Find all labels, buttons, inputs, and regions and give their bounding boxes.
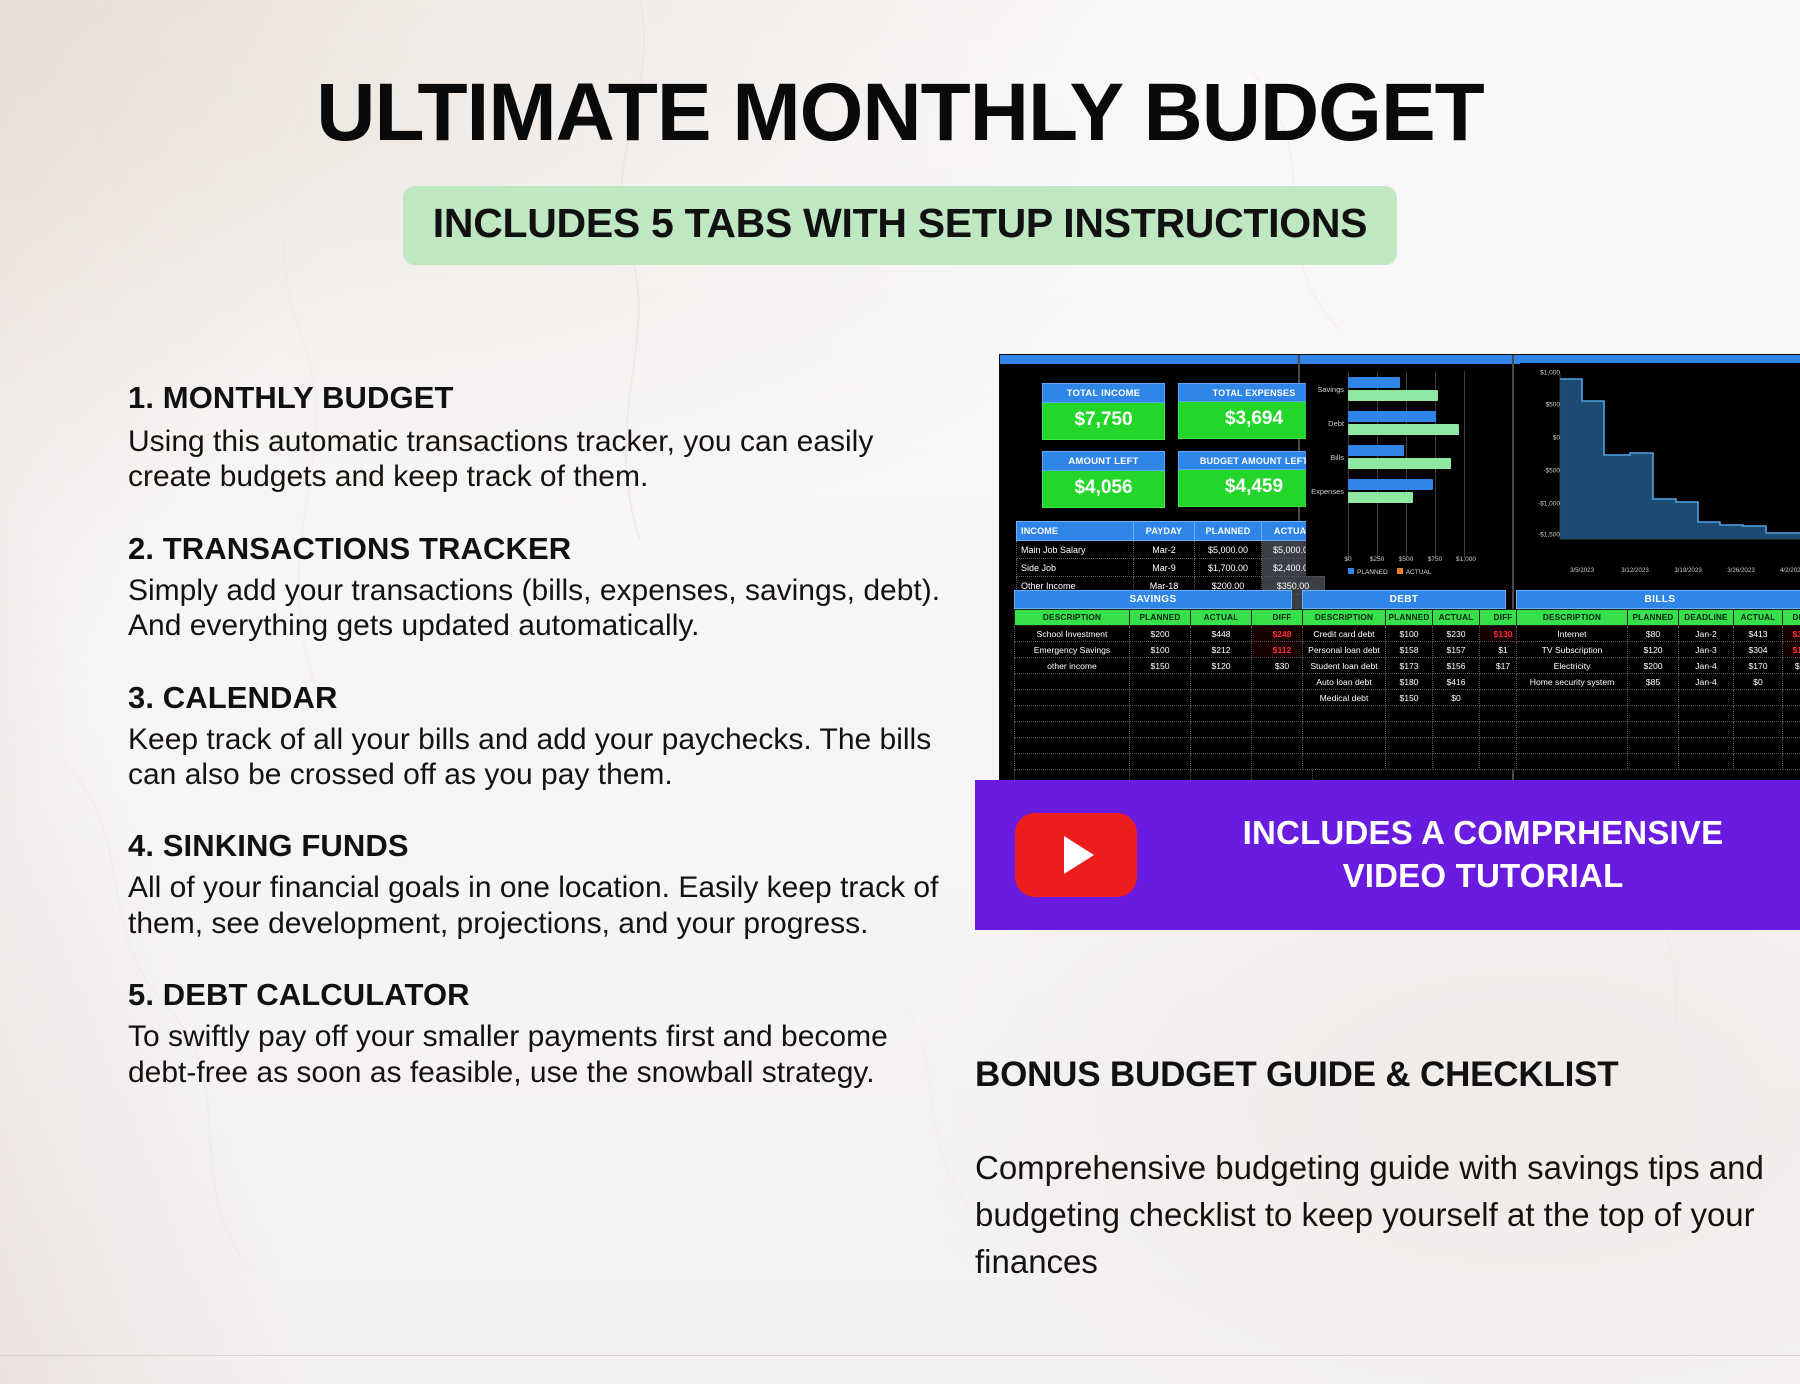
debt-cell-desc: Student loan debt: [1303, 658, 1386, 674]
legend-label-actual: ACTUAL: [1406, 569, 1432, 576]
bills-table: BILLS DESCRIPTION PLANNED DEADLINE ACTUA…: [1516, 590, 1800, 770]
table-row: Main Job Salary Mar-2 $5,000.00 $5,000.0…: [1017, 541, 1325, 559]
bills-cell-empty: [1734, 690, 1783, 706]
savings-cell-empty: [1130, 690, 1191, 706]
kpi-value-total-income: $7,750: [1042, 403, 1165, 440]
table-row: [1015, 706, 1313, 722]
bar-group-bills: Bills: [1306, 445, 1506, 473]
debt-cell-actual: $0: [1433, 690, 1480, 706]
balance-area-chart: $1,000 $500 $0 -$500 -$1,000 -$1,500 3/5…: [1520, 363, 1800, 575]
savings-header-row: DESCRIPTION PLANNED ACTUAL DIFF: [1015, 610, 1313, 626]
savings-cell-empty: [1015, 738, 1130, 754]
subtitle-post: WITH SETUP INSTRUCTIONS: [792, 200, 1367, 246]
debt-cell-empty: [1303, 706, 1386, 722]
x-tick-1000: $1,000: [1456, 556, 1476, 563]
income-cell-payday: Mar-9: [1134, 559, 1195, 577]
bills-col-planned: PLANNED: [1628, 610, 1679, 626]
bar-planned-expenses: [1348, 479, 1433, 490]
income-cell-desc: Side Job: [1017, 559, 1134, 577]
savings-cell-desc: School Investment: [1015, 626, 1130, 642]
y-tick-neg1000: -$1,000: [1538, 501, 1560, 508]
legend-swatch-actual: [1397, 568, 1403, 574]
savings-cell-empty: [1015, 674, 1130, 690]
savings-cell-actual: $212: [1191, 642, 1252, 658]
bar-label-bills: Bills: [1306, 453, 1344, 462]
debt-table: DEBT DESCRIPTION PLANNED ACTUAL DIFF Cre…: [1302, 590, 1506, 770]
savings-cell-desc: Emergency Savings: [1015, 642, 1130, 658]
bills-cell-desc: Internet: [1517, 626, 1628, 642]
table-row: [1015, 722, 1313, 738]
bills-cell-empty: [1679, 754, 1734, 770]
debt-cell-actual: $157: [1433, 642, 1480, 658]
savings-cell-empty: [1015, 754, 1130, 770]
savings-table-caption: SAVINGS: [1014, 590, 1292, 609]
debt-cell-actual: $156: [1433, 658, 1480, 674]
x-tick-250: $250: [1370, 556, 1384, 563]
bills-cell-planned: $120: [1628, 642, 1679, 658]
table-row: Auto loan debt $180 $416: [1303, 674, 1527, 690]
debt-table-caption: DEBT: [1302, 590, 1506, 609]
bar-chart-x-axis: $0 $250 $500 $750 $1,000: [1348, 556, 1502, 566]
subtitle-pre: INCLUDES 5: [433, 200, 685, 246]
bills-cell-empty: [1679, 690, 1734, 706]
bills-cell-empty: [1628, 690, 1679, 706]
x-label-3: 3/19/2023: [1674, 567, 1702, 574]
feature-heading-5: 5. DEBT CALCULATOR: [128, 977, 943, 1013]
savings-cell-empty: [1015, 722, 1130, 738]
bills-cell-actual: $304: [1734, 642, 1783, 658]
feature-list: 1. MONTHLY BUDGET Using this automatic t…: [128, 380, 943, 1126]
debt-cell-empty: [1386, 722, 1433, 738]
bills-col-actual: ACTUAL: [1734, 610, 1783, 626]
savings-cell-desc: other income: [1015, 658, 1130, 674]
bar-label-savings: Savings: [1306, 385, 1344, 394]
x-tick-750: $750: [1428, 556, 1442, 563]
bills-table-caption: BILLS: [1516, 590, 1800, 609]
savings-cell-empty: [1191, 674, 1252, 690]
table-row: [1015, 738, 1313, 754]
income-col-planned: PLANNED: [1195, 522, 1262, 541]
video-banner-text: INCLUDES A COMPRHENSIVE VIDEO TUTORIAL: [1171, 812, 1800, 898]
bar-actual-debt: [1348, 424, 1459, 435]
bills-cell-actual: $0: [1734, 674, 1783, 690]
bills-cell-actual: $170: [1734, 658, 1783, 674]
table-row: Emergency Savings $100 $212 $112: [1015, 642, 1313, 658]
bar-actual-savings: [1348, 390, 1438, 401]
bills-cell-planned: $80: [1628, 626, 1679, 642]
income-cell-payday: Mar-2: [1134, 541, 1195, 559]
y-tick-0: $0: [1553, 435, 1560, 442]
debt-cell-planned: $158: [1386, 642, 1433, 658]
feature-body-5: To swiftly pay off your smaller payments…: [128, 1019, 943, 1090]
y-tick-500: $500: [1546, 402, 1560, 409]
savings-cell-empty: [1130, 754, 1191, 770]
page-title: ULTIMATE MONTHLY BUDGET: [0, 72, 1800, 154]
table-row: [1015, 690, 1313, 706]
debt-cell-desc: Personal loan debt: [1303, 642, 1386, 658]
table-row: [1303, 738, 1527, 754]
debt-cell-desc: Auto loan debt: [1303, 674, 1386, 690]
savings-cell-empty: [1191, 722, 1252, 738]
bar-chart-legend: PLANNED ACTUAL: [1348, 568, 1431, 576]
subtitle-banner-wrap: INCLUDES 5 TABS WITH SETUP INSTRUCTIONS: [0, 186, 1800, 265]
bills-cell-diff: $184: [1783, 642, 1800, 658]
table-row: Student loan debt $173 $156 $17: [1303, 658, 1527, 674]
savings-cell-empty: [1015, 706, 1130, 722]
footer-divider: [0, 1355, 1800, 1356]
feature-item-5: 5. DEBT CALCULATOR To swiftly pay off yo…: [128, 977, 943, 1090]
bills-cell-diff: [1783, 674, 1800, 690]
table-row: Side Job Mar-9 $1,700.00 $2,400.00: [1017, 559, 1325, 577]
kpi-label-total-income: TOTAL INCOME: [1042, 383, 1165, 403]
kpi-card-amount-left: AMOUNT LEFT $4,056: [1042, 451, 1165, 508]
debt-col-description: DESCRIPTION: [1303, 610, 1386, 626]
bills-cell-diff: $333: [1783, 626, 1800, 642]
bills-col-description: DESCRIPTION: [1517, 610, 1628, 626]
debt-cell-desc: Credit card debt: [1303, 626, 1386, 642]
debt-cell-empty: [1303, 754, 1386, 770]
video-banner-line-2: VIDEO TUTORIAL: [1171, 855, 1795, 898]
y-tick-1000: $1,000: [1540, 370, 1560, 377]
bills-cell-deadline: Jan-2: [1679, 626, 1734, 642]
feature-heading-2: 2. TRANSACTIONS TRACKER: [128, 531, 943, 567]
bills-header-row: DESCRIPTION PLANNED DEADLINE ACTUAL DIFF: [1517, 610, 1800, 626]
balance-area-chart-svg: [1520, 363, 1800, 575]
bills-cell-empty: [1628, 706, 1679, 722]
feature-heading-3: 3. CALENDAR: [128, 680, 943, 716]
x-label-1: 3/5/2023: [1570, 567, 1594, 574]
x-tick-0: $0: [1344, 556, 1351, 563]
bonus-body: Comprehensive budgeting guide with savin…: [975, 1145, 1775, 1286]
table-row: [1517, 690, 1800, 706]
income-cell-desc: Main Job Salary: [1017, 541, 1134, 559]
bills-cell-empty: [1679, 722, 1734, 738]
table-row: Personal loan debt $158 $157 $1: [1303, 642, 1527, 658]
savings-table: SAVINGS DESCRIPTION PLANNED ACTUAL DIFF …: [1014, 590, 1292, 785]
bills-cell-deadline: Jan-4: [1679, 674, 1734, 690]
bills-cell-deadline: Jan-3: [1679, 642, 1734, 658]
savings-cell-empty: [1191, 754, 1252, 770]
x-label-5: 4/2/2023: [1780, 567, 1800, 574]
x-tick-500: $500: [1399, 556, 1413, 563]
y-tick-neg1500: -$1,500: [1538, 532, 1560, 539]
debt-cell-desc: Medical debt: [1303, 690, 1386, 706]
debt-cell-empty: [1433, 722, 1480, 738]
bar-planned-bills: [1348, 445, 1404, 456]
bills-cell-empty: [1783, 706, 1800, 722]
bills-cell-desc: Home security system: [1517, 674, 1628, 690]
bar-actual-expenses: [1348, 492, 1413, 503]
subtitle-banner: INCLUDES 5 TABS WITH SETUP INSTRUCTIONS: [403, 186, 1397, 265]
table-row: [1015, 674, 1313, 690]
x-label-4: 3/26/2023: [1727, 567, 1755, 574]
table-row: [1517, 706, 1800, 722]
debt-col-planned: PLANNED: [1386, 610, 1433, 626]
debt-cell-planned: $100: [1386, 626, 1433, 642]
savings-cell-planned: $200: [1130, 626, 1191, 642]
table-row: School Investment $200 $448 $248: [1015, 626, 1313, 642]
feature-item-1: 1. MONTHLY BUDGET Using this automatic t…: [128, 380, 943, 495]
feature-heading-4: 4. SINKING FUNDS: [128, 828, 943, 864]
debt-cell-empty: [1386, 754, 1433, 770]
debt-header-row: DESCRIPTION PLANNED ACTUAL DIFF: [1303, 610, 1527, 626]
bonus-heading: BONUS BUDGET GUIDE & CHECKLIST: [975, 1055, 1800, 1095]
legend-label-planned: PLANNED: [1357, 569, 1388, 576]
kpi-label-amount-left: AMOUNT LEFT: [1042, 451, 1165, 471]
bar-label-expenses: Expenses: [1306, 487, 1344, 496]
youtube-play-icon[interactable]: [1015, 813, 1137, 897]
debt-cell-empty: [1386, 738, 1433, 754]
bills-col-deadline: DEADLINE: [1679, 610, 1734, 626]
table-row: Electricity $200 Jan-4 $170 $30: [1517, 658, 1800, 674]
bills-cell-empty: [1734, 722, 1783, 738]
table-row: [1303, 722, 1527, 738]
bills-cell-empty: [1783, 690, 1800, 706]
bar-group-savings: Savings: [1306, 377, 1506, 405]
feature-body-1: Using this automatic transactions tracke…: [128, 424, 943, 495]
debt-cell-empty: [1386, 706, 1433, 722]
table-row: TV Subscription $120 Jan-3 $304 $184: [1517, 642, 1800, 658]
income-col-payday: PAYDAY: [1134, 522, 1195, 541]
bills-cell-empty: [1679, 738, 1734, 754]
savings-cell-empty: [1191, 738, 1252, 754]
video-banner-line-1: INCLUDES A COMPRHENSIVE: [1171, 812, 1795, 855]
debt-cell-actual: $230: [1433, 626, 1480, 642]
feature-body-2: Simply add your transactions (bills, exp…: [128, 573, 943, 644]
income-table-header-row: INCOME PAYDAY PLANNED ACTUAL: [1017, 522, 1325, 541]
bills-cell-empty: [1783, 722, 1800, 738]
bar-planned-savings: [1348, 377, 1400, 388]
savings-cell-empty: [1130, 738, 1191, 754]
bills-cell-empty: [1517, 722, 1628, 738]
legend-item-planned: PLANNED: [1348, 568, 1388, 576]
income-cell-planned: $1,700.00: [1195, 559, 1262, 577]
table-row: [1517, 754, 1800, 770]
debt-cell-empty: [1433, 738, 1480, 754]
bar-group-debt: Debt: [1306, 411, 1506, 439]
bills-cell-empty: [1734, 754, 1783, 770]
bills-cell-empty: [1679, 706, 1734, 722]
income-cell-planned: $5,000.00: [1195, 541, 1262, 559]
income-col-income: INCOME: [1017, 522, 1134, 541]
bills-col-diff: DIFF: [1783, 610, 1800, 626]
bills-cell-empty: [1517, 738, 1628, 754]
x-label-2: 3/12/2023: [1621, 567, 1649, 574]
savings-cell-empty: [1130, 674, 1191, 690]
subtitle-strong: TABS: [685, 200, 792, 246]
bills-cell-actual: $413: [1734, 626, 1783, 642]
savings-cell-empty: [1015, 690, 1130, 706]
bar-label-debt: Debt: [1306, 419, 1344, 428]
table-row: Medical debt $150 $0: [1303, 690, 1527, 706]
table-row: Credit card debt $100 $230 $130: [1303, 626, 1527, 642]
table-row: [1517, 722, 1800, 738]
savings-cell-empty: [1191, 690, 1252, 706]
legend-item-actual: ACTUAL: [1397, 568, 1432, 576]
bills-cell-empty: [1628, 722, 1679, 738]
legend-swatch-planned: [1348, 568, 1354, 574]
savings-cell-empty: [1191, 706, 1252, 722]
savings-cell-empty: [1130, 706, 1191, 722]
planned-vs-actual-bar-chart: Savings Debt Bills: [1306, 371, 1506, 576]
bills-cell-planned: $200: [1628, 658, 1679, 674]
debt-cell-planned: $150: [1386, 690, 1433, 706]
kpi-card-total-income: TOTAL INCOME $7,750: [1042, 383, 1165, 440]
bills-cell-empty: [1783, 738, 1800, 754]
bills-cell-empty: [1517, 690, 1628, 706]
savings-cell-empty: [1130, 722, 1191, 738]
savings-col-description: DESCRIPTION: [1015, 610, 1130, 626]
bar-planned-debt: [1348, 411, 1436, 422]
table-row: other income $150 $120 $30: [1015, 658, 1313, 674]
savings-col-actual: ACTUAL: [1191, 610, 1252, 626]
debt-cell-empty: [1303, 722, 1386, 738]
feature-item-2: 2. TRANSACTIONS TRACKER Simply add your …: [128, 531, 943, 644]
table-row: [1015, 754, 1313, 770]
bills-cell-deadline: Jan-4: [1679, 658, 1734, 674]
table-row: Home security system $85 Jan-4 $0: [1517, 674, 1800, 690]
debt-cell-planned: $173: [1386, 658, 1433, 674]
table-row: Internet $80 Jan-2 $413 $333: [1517, 626, 1800, 642]
bills-cell-empty: [1628, 738, 1679, 754]
savings-cell-planned: $150: [1130, 658, 1191, 674]
play-triangle-icon: [1064, 836, 1094, 874]
y-tick-neg500: -$500: [1543, 468, 1560, 475]
feature-item-3: 3. CALENDAR Keep track of all your bills…: [128, 680, 943, 793]
bills-cell-empty: [1734, 706, 1783, 722]
savings-cell-actual: $120: [1191, 658, 1252, 674]
debt-cell-actual: $416: [1433, 674, 1480, 690]
bills-cell-desc: TV Subscription: [1517, 642, 1628, 658]
video-tutorial-banner[interactable]: INCLUDES A COMPRHENSIVE VIDEO TUTORIAL: [975, 780, 1800, 930]
debt-cell-empty: [1433, 754, 1480, 770]
savings-cell-planned: $100: [1130, 642, 1191, 658]
spreadsheet-screenshot: TOTAL INCOME $7,750 AMOUNT LEFT $4,056 T…: [1000, 355, 1800, 785]
table-row: [1303, 706, 1527, 722]
debt-cell-empty: [1433, 706, 1480, 722]
bills-cell-empty: [1783, 754, 1800, 770]
savings-cell-actual: $448: [1191, 626, 1252, 642]
bills-cell-desc: Electricity: [1517, 658, 1628, 674]
debt-cell-empty: [1303, 738, 1386, 754]
feature-body-3: Keep track of all your bills and add you…: [128, 722, 943, 793]
bills-cell-diff: $30: [1783, 658, 1800, 674]
bills-cell-empty: [1517, 754, 1628, 770]
bar-actual-bills: [1348, 458, 1451, 469]
feature-item-4: 4. SINKING FUNDS All of your financial g…: [128, 828, 943, 941]
feature-body-4: All of your financial goals in one locat…: [128, 870, 943, 941]
savings-col-planned: PLANNED: [1130, 610, 1191, 626]
feature-heading-1: 1. MONTHLY BUDGET: [128, 380, 943, 416]
bar-group-expenses: Expenses: [1306, 479, 1506, 507]
debt-col-actual: ACTUAL: [1433, 610, 1480, 626]
bills-cell-empty: [1734, 738, 1783, 754]
table-row: [1303, 754, 1527, 770]
kpi-value-amount-left: $4,056: [1042, 471, 1165, 508]
bills-cell-empty: [1517, 706, 1628, 722]
table-row: [1517, 738, 1800, 754]
debt-cell-planned: $180: [1386, 674, 1433, 690]
bills-cell-empty: [1628, 754, 1679, 770]
bills-cell-planned: $85: [1628, 674, 1679, 690]
